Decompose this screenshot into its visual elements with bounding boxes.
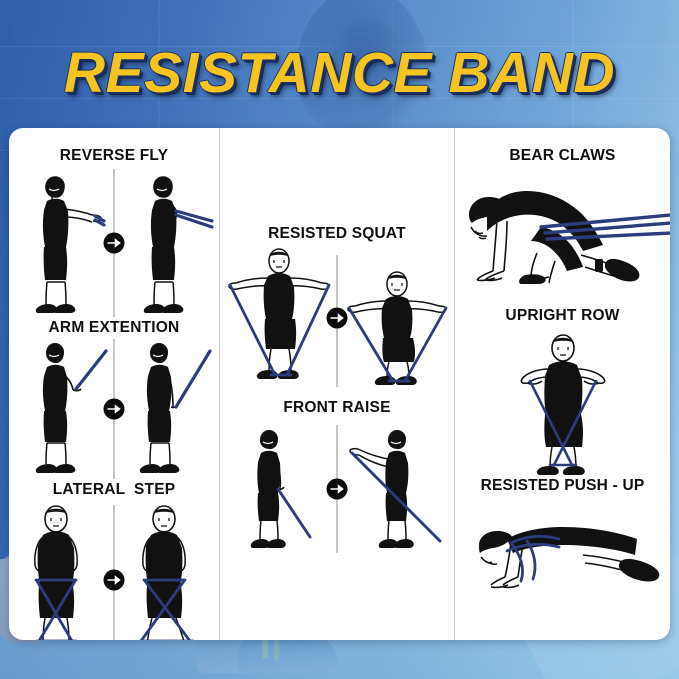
figure-reverse-fly-end [124,171,212,317]
exercise-lateral-step: LATERAL STEP [9,481,219,640]
exercise-label: RESISTED PUSH - UP [455,477,670,495]
exercise-front-raise: FRONT RAISE [220,399,454,553]
column-right: BEAR CLAWS [455,128,670,640]
poster-title: RESISTANCE BAND [0,42,679,104]
exercise-resisted-push-up: RESISTED PUSH - UP [455,477,670,605]
arrow-badge-icon [327,308,348,329]
exercise-label: FRONT RAISE [220,399,454,417]
figure-resisted-push-up [463,511,663,605]
exercise-label: LATERAL STEP [9,481,219,499]
poster-root: RESISTANCE BAND REVERSE FLY [0,0,679,679]
figure-bear-claws [459,175,670,293]
exercise-reverse-fly: REVERSE FLY [9,147,219,317]
exercise-upright-row: UPRIGHT ROW [455,307,670,479]
figure-front-raise-end [342,427,440,553]
exercise-resisted-squat: RESISTED SQUAT [220,225,454,389]
background-shoe [238,635,338,673]
arrow-badge-icon [104,233,125,254]
exercise-arm-extention: ARM EXTENTION [9,319,219,479]
exercise-label: ARM EXTENTION [9,319,219,337]
exercise-card: REVERSE FLY [9,128,670,640]
column-middle: RESISTED SQUAT [220,128,454,640]
exercise-label: UPRIGHT ROW [455,307,670,325]
exercise-label: BEAR CLAWS [455,147,670,165]
figure-resisted-squat-standing [221,247,337,385]
figure-resisted-squat-lowered [341,271,453,389]
exercise-bear-claws: BEAR CLAWS [455,147,670,293]
figure-front-raise-start [234,427,310,553]
figure-arm-extention-end [122,339,210,479]
arrow-badge-icon [104,570,125,591]
exercise-label: RESISTED SQUAT [220,225,454,243]
column-left: REVERSE FLY [9,128,219,640]
arrow-badge-icon [104,399,125,420]
figure-arm-extention-start [18,339,106,479]
figure-lateral-step-start [10,505,102,640]
arrow-badge-icon [327,479,348,500]
figure-lateral-step-end [114,505,218,640]
figure-upright-row [508,333,618,479]
figure-reverse-fly-start [16,171,104,317]
exercise-label: REVERSE FLY [9,147,219,165]
